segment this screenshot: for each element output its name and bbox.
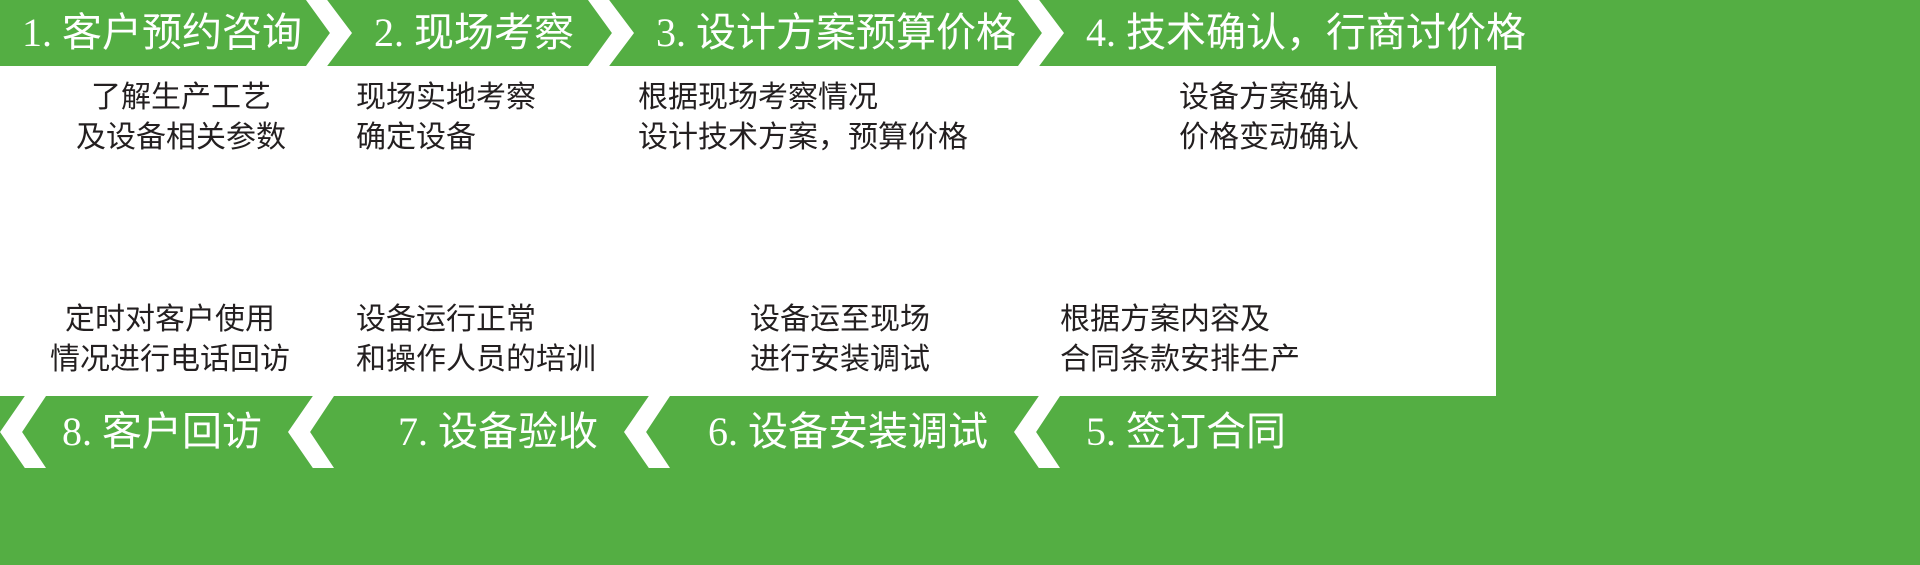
- step-description-3: 根据现场考察情况 设计技术方案，预算价格: [638, 78, 1038, 158]
- step-banner-1-label: 1. 客户预约咨询: [22, 13, 302, 53]
- step-description-5-line-1: 根据方案内容及: [1060, 300, 1380, 340]
- step-description-1-line-1: 了解生产工艺: [36, 78, 326, 118]
- bottom-banner-row: 8. 客户回访 7. 设备验收 6. 设备安装调试 5. 签订合同: [0, 396, 1920, 468]
- step-description-7: 设备运行正常 和操作人员的培训: [356, 300, 646, 380]
- step-banner-8-label: 8. 客户回访: [62, 412, 262, 452]
- step-description-6-line-2: 进行安装调试: [690, 340, 990, 380]
- step-banner-4[interactable]: 4. 技术确认，行商讨价格: [1064, 0, 1920, 66]
- process-flow-diagram: 1. 客户预约咨询 2. 现场考察 3. 设计方案预算价格 4. 技术确认，行商…: [0, 0, 1920, 565]
- step-description-5-line-2: 合同条款安排生产: [1060, 340, 1380, 380]
- step-description-1: 了解生产工艺 及设备相关参数: [36, 78, 326, 158]
- step-banner-6[interactable]: 6. 设备安装调试: [624, 396, 1014, 468]
- step-description-8-line-1: 定时对客户使用: [20, 300, 320, 340]
- step-description-2-line-2: 确定设备: [356, 118, 626, 158]
- step-banner-3[interactable]: 3. 设计方案预算价格: [634, 0, 1064, 66]
- step-description-6: 设备运至现场 进行安装调试: [690, 300, 990, 380]
- step-description-6-line-1: 设备运至现场: [690, 300, 990, 340]
- step-description-4-line-1: 设备方案确认: [1104, 78, 1434, 118]
- step-banner-7[interactable]: 7. 设备验收: [288, 396, 624, 468]
- step-banner-3-label: 3. 设计方案预算价格: [656, 13, 1016, 53]
- step-banner-4-label: 4. 技术确认，行商讨价格: [1086, 13, 1526, 53]
- step-description-7-line-2: 和操作人员的培训: [356, 340, 646, 380]
- step-description-2-line-1: 现场实地考察: [356, 78, 626, 118]
- step-description-4-line-2: 价格变动确认: [1104, 118, 1434, 158]
- step-banner-5[interactable]: 5. 签订合同: [1014, 396, 1920, 468]
- step-description-3-line-1: 根据现场考察情况: [638, 78, 1038, 118]
- step-banner-6-label: 6. 设备安装调试: [708, 412, 988, 452]
- step-banner-2-label: 2. 现场考察: [374, 13, 574, 53]
- step-banner-8[interactable]: 8. 客户回访: [0, 396, 288, 468]
- step-description-3-line-2: 设计技术方案，预算价格: [638, 118, 1038, 158]
- step-banner-2[interactable]: 2. 现场考察: [352, 0, 634, 66]
- step-description-8-line-2: 情况进行电话回访: [20, 340, 320, 380]
- step-banner-5-label: 5. 签订合同: [1086, 412, 1286, 452]
- step-description-7-line-1: 设备运行正常: [356, 300, 646, 340]
- step-description-4: 设备方案确认 价格变动确认: [1104, 78, 1434, 158]
- step-description-8: 定时对客户使用 情况进行电话回访: [20, 300, 320, 380]
- top-banner-row: 1. 客户预约咨询 2. 现场考察 3. 设计方案预算价格 4. 技术确认，行商…: [0, 0, 1920, 66]
- step-description-1-line-2: 及设备相关参数: [36, 118, 326, 158]
- step-banner-1[interactable]: 1. 客户预约咨询: [0, 0, 352, 66]
- step-description-5: 根据方案内容及 合同条款安排生产: [1060, 300, 1380, 380]
- step-description-2: 现场实地考察 确定设备: [356, 78, 626, 158]
- step-banner-7-label: 7. 设备验收: [398, 412, 598, 452]
